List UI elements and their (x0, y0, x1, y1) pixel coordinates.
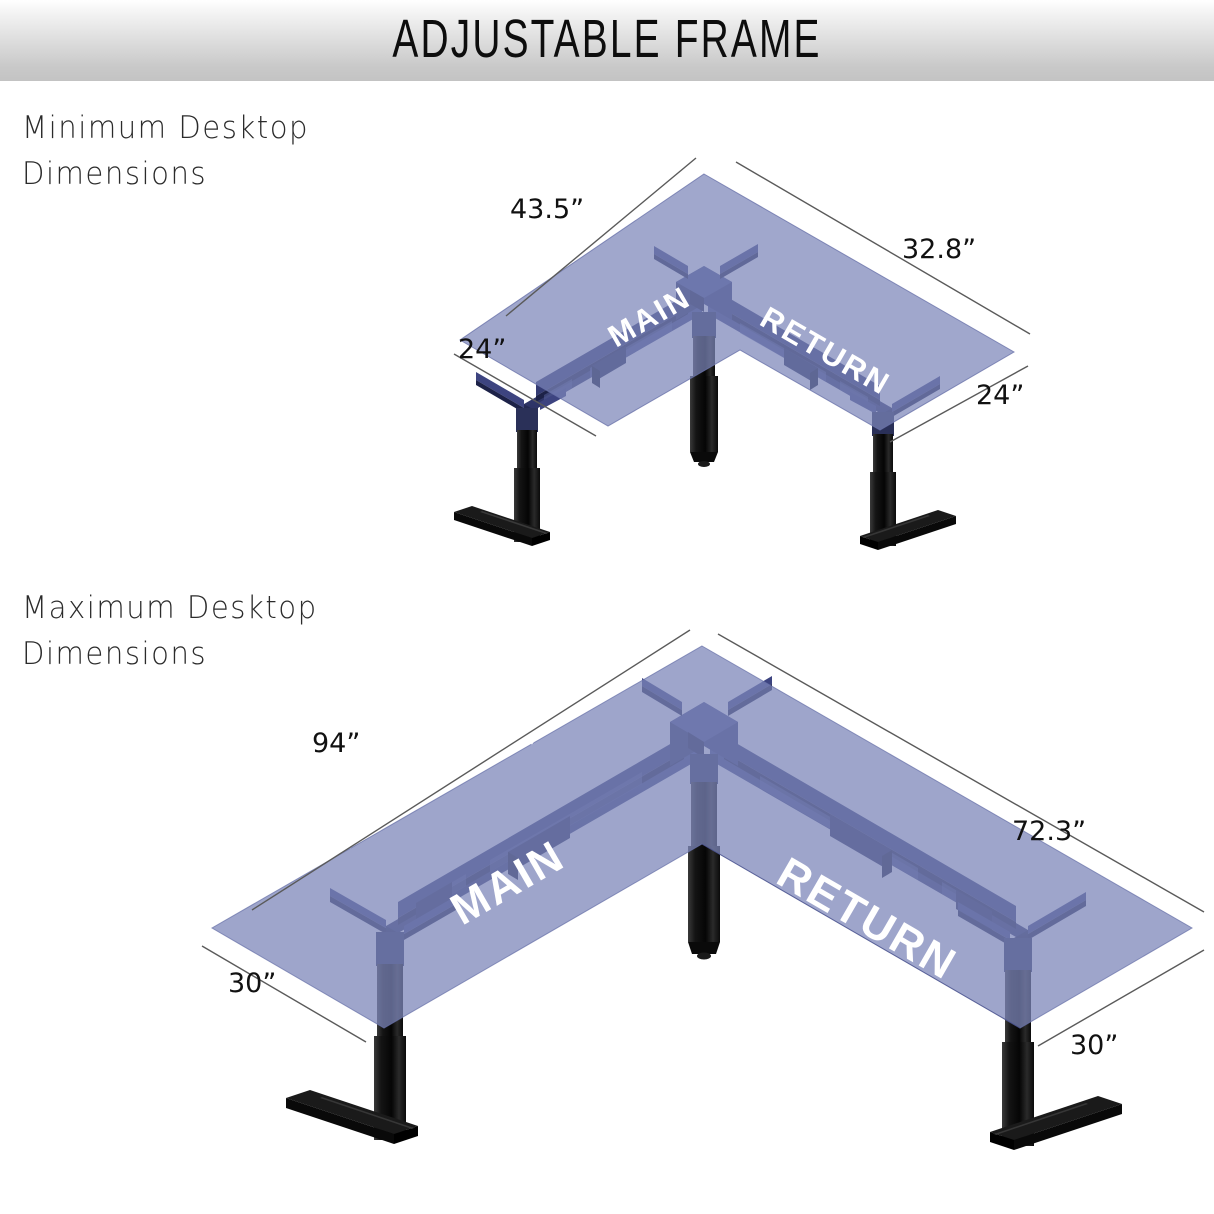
dim-label-return-depth: 30” (1070, 1030, 1118, 1061)
diagram-maximum-desktop: MAIN RETURN 94” 72.3” 30” 30” (190, 620, 1214, 1214)
diagram-minimum-desktop: MAIN RETURN 43.5” 32.8” 24” 24” (440, 140, 1080, 580)
dim-label-return-depth: 24” (976, 380, 1024, 411)
section-heading-minimum: Minimum Desktop Dimensions (22, 105, 309, 197)
dim-label-main-depth: 24” (458, 334, 506, 365)
dim-label-main-length: 94” (312, 728, 360, 759)
dim-label-main-depth: 30” (228, 968, 276, 999)
dim-label-return-length: 72.3” (1012, 816, 1086, 847)
page-title: ADJUSTABLE FRAME (170, 8, 1044, 70)
leg-main (454, 408, 550, 546)
dim-label-main-length: 43.5” (510, 194, 584, 225)
dim-label-return-length: 32.8” (902, 234, 976, 265)
